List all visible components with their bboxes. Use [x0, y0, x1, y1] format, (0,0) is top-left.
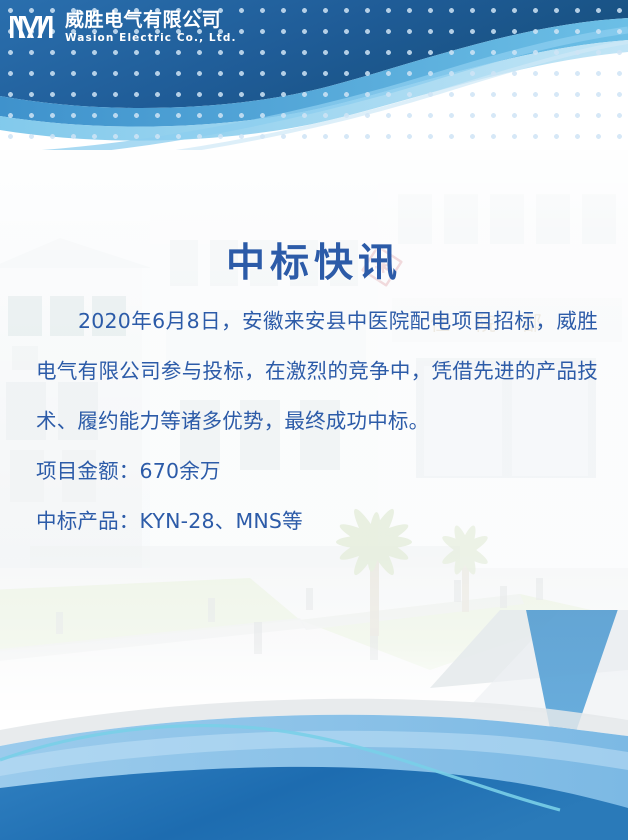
page-title: 中标快讯 [0, 232, 628, 288]
winning-product-line: 中标产品：KYN-28、MNS等 [36, 496, 598, 546]
company-name-cn: 威胜电气有限公司 [65, 11, 237, 30]
announcement-body: 2020年6月8日，安徽来安县中医院配电项目招标，威胜电气有限公司参与投标，在激… [36, 296, 598, 546]
footer-banner [0, 610, 628, 840]
footer-wave-graphic [0, 610, 628, 840]
company-name-en: Wasion Electric Co., Ltd. [65, 33, 237, 44]
project-amount-line: 项目金额：670余万 [36, 446, 598, 496]
wasion-w-logo-icon [10, 12, 56, 42]
poster-canvas: 住院部 [0, 0, 628, 840]
company-logo: 威胜电气有限公司 Wasion Electric Co., Ltd. [10, 11, 237, 44]
logo-wordmark: 威胜电气有限公司 Wasion Electric Co., Ltd. [65, 11, 237, 44]
announcement-paragraph: 2020年6月8日，安徽来安县中医院配电项目招标，威胜电气有限公司参与投标，在激… [36, 296, 598, 446]
